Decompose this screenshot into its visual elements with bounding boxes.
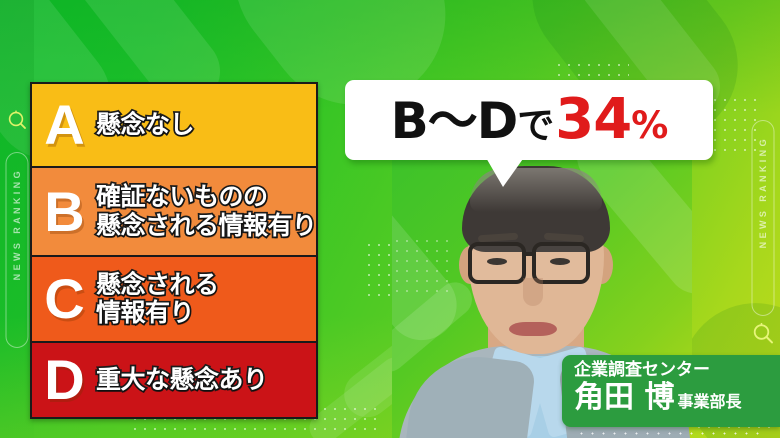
photo-glasses-bridge [525, 252, 534, 256]
magnifier-icon [6, 110, 28, 137]
grade-table: A 懸念なし B 確証ないものの 懸念される情報有り C 懸念される 情報有り … [30, 82, 318, 419]
broadcast-graphic-screen: NEWS RANKING NEWS RANKING A 懸念なし [0, 0, 780, 438]
speech-bubble: B〜D で 34 % [345, 80, 713, 160]
grade-letter-d: D [32, 352, 96, 408]
grade-description-a-line1: 懸念なし [96, 111, 316, 140]
magnifier-icon [751, 322, 775, 351]
right-rail-label: NEWS RANKING [758, 136, 768, 248]
name-plate-name-row: 角田 博 事業部長 [574, 382, 770, 414]
left-rail-label: NEWS RANKING [12, 168, 22, 280]
grade-description-b-line2: 懸念される情報有り [96, 212, 317, 241]
grade-description-c-line2: 情報有り [96, 299, 316, 328]
grade-letter-c: C [32, 271, 96, 327]
photo-dot-grid [392, 236, 452, 298]
speech-bubble-value: 34 [555, 92, 631, 148]
speech-bubble-tail [485, 156, 529, 190]
name-plate: 企業調査センター 角田 博 事業部長 [562, 355, 780, 427]
name-plate-dot-accent [576, 430, 766, 437]
grade-description-d-line1: 重大な懸念あり [96, 366, 316, 395]
name-plate-job-title: 事業部長 [677, 388, 741, 412]
grade-description-c-line1: 懸念される [96, 271, 316, 300]
name-plate-person-name: 角田 博 [574, 382, 674, 414]
grade-row-a: A 懸念なし [32, 84, 316, 168]
grade-row-c: C 懸念される 情報有り [32, 257, 316, 343]
glasses-icon [468, 242, 526, 284]
name-plate-organization: 企業調査センター [574, 360, 770, 381]
photo-mouth [509, 322, 557, 336]
photo-nose [523, 278, 543, 306]
speech-bubble-prefix: B〜D [391, 96, 518, 146]
speech-bubble-text: B〜D で 34 % [391, 92, 668, 148]
speech-bubble-unit: % [631, 107, 667, 144]
grade-row-d: D 重大な懸念あり [32, 343, 316, 417]
grade-row-b: B 確証ないものの 懸念される情報有り [32, 168, 316, 257]
grade-description-b-line1: 確証ないものの [96, 183, 317, 212]
grade-letter-b: B [32, 184, 96, 240]
speech-bubble-particle: で [517, 107, 553, 144]
grade-letter-a: A [32, 97, 96, 153]
left-rail: NEWS RANKING [0, 0, 34, 438]
